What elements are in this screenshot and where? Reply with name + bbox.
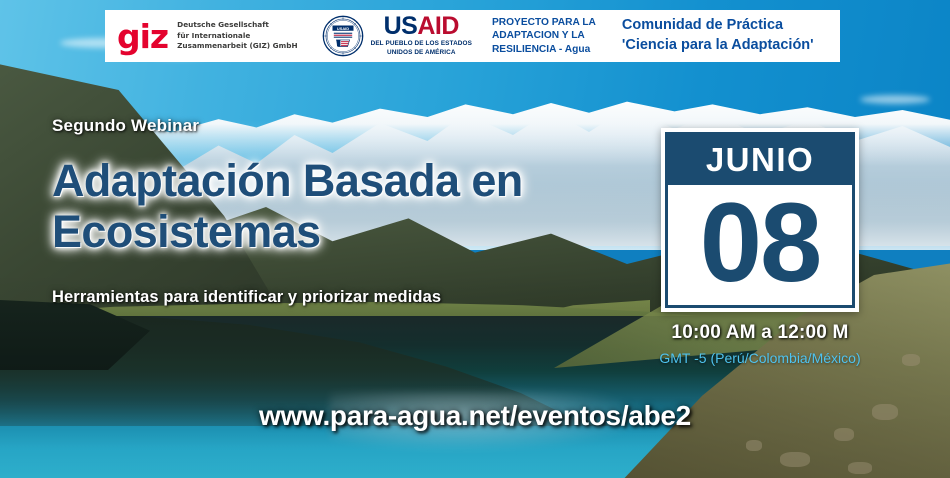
giz-logo: giz Deutsche Gesellschaft für Internatio… — [105, 20, 308, 53]
rock-shape — [780, 452, 810, 467]
giz-full-name: Deutsche Gesellschaft für Internationale… — [177, 20, 297, 52]
date-badge: JUNIO 08 — [661, 128, 859, 312]
date-month: JUNIO — [668, 135, 852, 185]
rock-shape — [848, 462, 872, 474]
usaid-wordmark: USAID DEL PUEBLO DE LOS ESTADOS UNIDOS D… — [371, 14, 472, 57]
date-day: 08 — [668, 185, 852, 305]
event-url[interactable]: www.para-agua.net/eventos/abe2 — [0, 400, 950, 432]
rock-shape — [902, 354, 920, 366]
giz-wordmark-icon: giz — [117, 20, 168, 53]
partner-logo-band: giz Deutsche Gesellschaft für Internatio… — [105, 10, 840, 62]
usaid-tagline: DEL PUEBLO DE LOS ESTADOS UNIDOS DE AMÉR… — [371, 40, 472, 57]
usaid-logo: USAID USAID DEL P — [308, 14, 478, 57]
page-subtitle: Herramientas para identificar y prioriza… — [52, 288, 441, 307]
event-time: 10:00 AM a 12:00 M — [661, 322, 859, 344]
usaid-aid-part: AID — [417, 12, 459, 40]
svg-text:USAID: USAID — [337, 26, 349, 31]
usaid-wordmark-text: USAID — [384, 14, 459, 39]
webinar-banner: giz Deutsche Gesellschaft für Internatio… — [0, 0, 950, 478]
cloud-shape — [860, 95, 930, 104]
usaid-us-part: US — [384, 12, 418, 40]
usaid-seal-icon: USAID — [322, 15, 364, 57]
rock-shape — [746, 440, 762, 451]
community-of-practice-name: Comunidad de Práctica 'Ciencia para la A… — [604, 16, 814, 55]
date-badge-frame: JUNIO 08 — [665, 132, 855, 308]
webinar-eyebrow: Segundo Webinar — [52, 116, 199, 136]
event-timezone: GMT -5 (Perú/Colombia/México) — [651, 350, 869, 366]
page-title: Adaptación Basada en Ecosistemas — [52, 155, 632, 258]
project-name: PROYECTO PARA LA ADAPTACION Y LA RESILIE… — [478, 16, 604, 56]
